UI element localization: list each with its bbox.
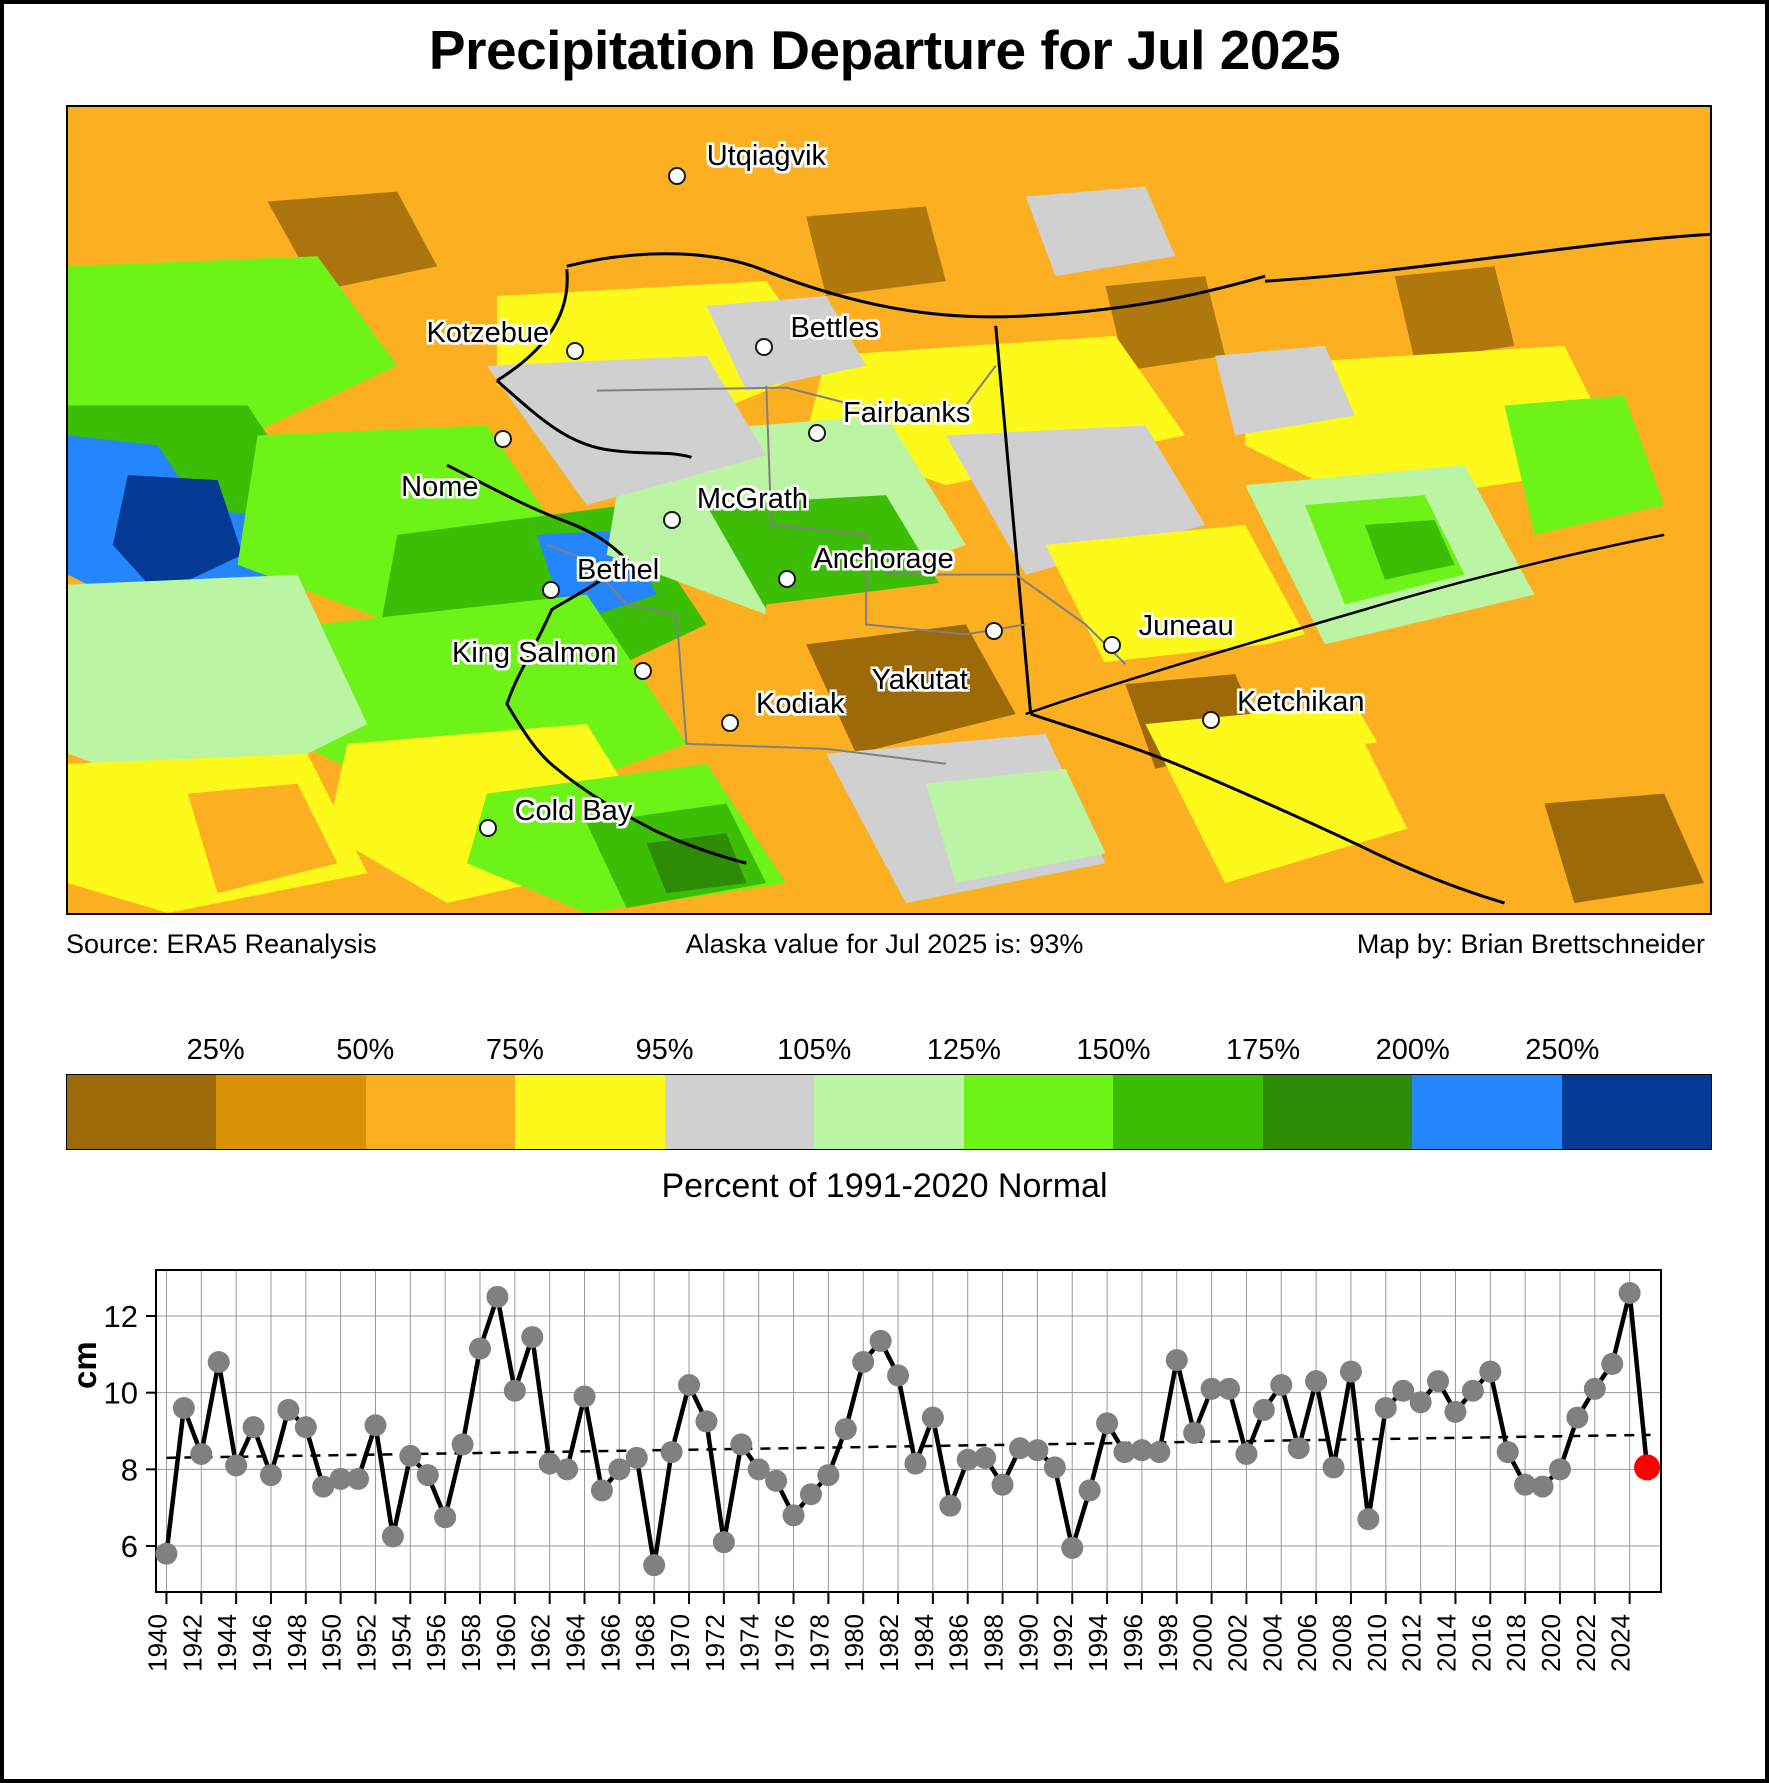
city-dot-icon bbox=[721, 714, 739, 732]
data-point-marker bbox=[347, 1468, 369, 1490]
data-point-marker bbox=[364, 1414, 386, 1436]
y-tick-label: 12 bbox=[104, 1299, 138, 1334]
colorbar-swatch bbox=[964, 1075, 1113, 1149]
city-label: King Salmon bbox=[452, 637, 616, 670]
data-point-marker bbox=[1044, 1456, 1066, 1478]
colorbar-swatch bbox=[216, 1075, 365, 1149]
data-point-marker bbox=[1061, 1537, 1083, 1559]
data-point-marker bbox=[243, 1416, 265, 1438]
x-tick-label: 1968 bbox=[630, 1614, 660, 1672]
city-dot-icon bbox=[985, 622, 1003, 640]
city-label: Nome bbox=[401, 471, 478, 504]
x-tick-label: 2020 bbox=[1536, 1614, 1566, 1672]
data-point-marker bbox=[1235, 1443, 1257, 1465]
data-point-marker bbox=[486, 1286, 508, 1308]
x-tick-label: 1958 bbox=[456, 1614, 486, 1672]
x-tick-label: 2010 bbox=[1362, 1614, 1392, 1672]
data-point-marker bbox=[1462, 1380, 1484, 1402]
x-tick-label: 2004 bbox=[1257, 1614, 1287, 1672]
data-point-marker bbox=[1148, 1441, 1170, 1463]
colorbar-swatch bbox=[665, 1075, 814, 1149]
data-point-marker bbox=[661, 1441, 683, 1463]
city-dot-icon bbox=[542, 581, 560, 599]
city-dot-icon bbox=[1103, 636, 1121, 654]
city-dot-icon bbox=[808, 424, 826, 442]
data-point-marker bbox=[1479, 1361, 1501, 1383]
colorbar-swatch bbox=[1113, 1075, 1262, 1149]
data-point-marker bbox=[1183, 1422, 1205, 1444]
x-tick-label: 1952 bbox=[351, 1614, 381, 1672]
data-point-marker bbox=[974, 1447, 996, 1469]
timeseries-chart: 6810121940194219441946194819501952195419… bbox=[66, 1262, 1712, 1762]
data-point-marker bbox=[1357, 1508, 1379, 1530]
colorbar-tick-label: 250% bbox=[1525, 1034, 1599, 1067]
colorbar-tick-label: 75% bbox=[486, 1034, 544, 1067]
data-point-marker bbox=[765, 1470, 787, 1492]
city-dot-icon bbox=[479, 819, 497, 837]
x-tick-label: 1984 bbox=[909, 1614, 939, 1672]
data-point-marker bbox=[452, 1433, 474, 1455]
current-year-marker bbox=[1634, 1454, 1660, 1480]
data-point-marker bbox=[1444, 1401, 1466, 1423]
data-point-marker bbox=[295, 1416, 317, 1438]
x-tick-label: 1972 bbox=[700, 1614, 730, 1672]
x-tick-label: 2022 bbox=[1571, 1614, 1601, 1672]
x-tick-label: 1956 bbox=[421, 1614, 451, 1672]
city-dot-icon bbox=[634, 662, 652, 680]
x-tick-label: 2000 bbox=[1188, 1614, 1218, 1672]
data-point-marker bbox=[695, 1410, 717, 1432]
page-title: Precipitation Departure for Jul 2025 bbox=[4, 18, 1765, 82]
y-axis-label: cm bbox=[66, 1341, 104, 1389]
data-point-marker bbox=[800, 1483, 822, 1505]
data-point-marker bbox=[417, 1464, 439, 1486]
data-point-marker bbox=[277, 1399, 299, 1421]
city-label: Bethel bbox=[577, 554, 659, 587]
data-point-marker bbox=[1619, 1282, 1641, 1304]
author-caption: Map by: Brian Brettschneider bbox=[1357, 929, 1705, 960]
data-point-marker bbox=[1079, 1479, 1101, 1501]
x-tick-label: 1970 bbox=[665, 1614, 695, 1672]
city-label: Fairbanks bbox=[843, 397, 970, 430]
city-label: Cold Bay bbox=[515, 795, 633, 828]
city-label: McGrath bbox=[697, 483, 808, 516]
colorbar-tick-label: 25% bbox=[187, 1034, 245, 1067]
precipitation-map-page: Precipitation Departure for Jul 2025 bbox=[0, 0, 1769, 1783]
colorbar-tick-label: 95% bbox=[636, 1034, 694, 1067]
x-tick-label: 2012 bbox=[1397, 1614, 1427, 1672]
data-point-marker bbox=[1288, 1437, 1310, 1459]
data-point-marker bbox=[1253, 1399, 1275, 1421]
data-point-marker bbox=[870, 1330, 892, 1352]
x-tick-label: 2024 bbox=[1606, 1614, 1636, 1672]
colorbar-title: Percent of 1991-2020 Normal bbox=[4, 1167, 1765, 1206]
colorbar-swatch bbox=[1263, 1075, 1412, 1149]
city-label: Juneau bbox=[1139, 610, 1234, 643]
x-tick-label: 2018 bbox=[1501, 1614, 1531, 1672]
data-point-marker bbox=[939, 1495, 961, 1517]
colorbar-tick-label: 105% bbox=[777, 1034, 851, 1067]
timeseries-svg: 6810121940194219441946194819501952195419… bbox=[66, 1262, 1712, 1762]
city-label: Kodiak bbox=[756, 688, 845, 721]
data-point-marker bbox=[1166, 1349, 1188, 1371]
colorbar-swatch bbox=[515, 1075, 664, 1149]
data-point-marker bbox=[1340, 1361, 1362, 1383]
data-point-marker bbox=[208, 1351, 230, 1373]
colorbar-swatch bbox=[814, 1075, 963, 1149]
city-dot-icon bbox=[755, 338, 773, 356]
data-point-marker bbox=[574, 1386, 596, 1408]
data-point-marker bbox=[504, 1380, 526, 1402]
colorbar-swatch bbox=[1412, 1075, 1561, 1149]
x-tick-label: 1946 bbox=[247, 1614, 277, 1672]
colorbar-tick-label: 125% bbox=[927, 1034, 1001, 1067]
data-point-marker bbox=[469, 1338, 491, 1360]
y-tick-label: 6 bbox=[121, 1529, 138, 1564]
colorbar-tick-label: 50% bbox=[336, 1034, 394, 1067]
x-tick-label: 1978 bbox=[804, 1614, 834, 1672]
data-point-marker bbox=[678, 1374, 700, 1396]
city-label: Ketchikan bbox=[1237, 686, 1364, 719]
city-dot-icon bbox=[494, 430, 512, 448]
x-tick-label: 1966 bbox=[595, 1614, 625, 1672]
data-point-marker bbox=[1218, 1378, 1240, 1400]
city-label: Kotzebue bbox=[427, 317, 550, 350]
x-tick-label: 1962 bbox=[526, 1614, 556, 1672]
city-dot-icon bbox=[778, 570, 796, 588]
x-tick-label: 1988 bbox=[979, 1614, 1009, 1672]
data-point-marker bbox=[713, 1531, 735, 1553]
data-point-marker bbox=[922, 1407, 944, 1429]
x-tick-label: 1964 bbox=[561, 1614, 591, 1672]
data-point-marker bbox=[1096, 1412, 1118, 1434]
data-point-marker bbox=[783, 1504, 805, 1526]
data-point-marker bbox=[904, 1453, 926, 1475]
data-point-marker bbox=[1270, 1374, 1292, 1396]
x-tick-label: 1994 bbox=[1083, 1614, 1113, 1672]
data-point-marker bbox=[591, 1479, 613, 1501]
data-point-marker bbox=[521, 1326, 543, 1348]
x-tick-label: 2002 bbox=[1222, 1614, 1252, 1672]
data-point-marker bbox=[852, 1351, 874, 1373]
x-tick-label: 1990 bbox=[1013, 1614, 1043, 1672]
x-tick-label: 1974 bbox=[735, 1614, 765, 1672]
x-tick-label: 1950 bbox=[317, 1614, 347, 1672]
data-point-marker bbox=[1305, 1370, 1327, 1392]
x-tick-label: 1982 bbox=[874, 1614, 904, 1672]
data-point-marker bbox=[1427, 1370, 1449, 1392]
data-point-marker bbox=[835, 1418, 857, 1440]
data-point-marker bbox=[399, 1445, 421, 1467]
city-label: Anchorage bbox=[813, 543, 953, 576]
data-point-marker bbox=[1584, 1378, 1606, 1400]
colorbar-swatches bbox=[66, 1074, 1712, 1150]
data-point-marker bbox=[1410, 1391, 1432, 1413]
x-tick-label: 1980 bbox=[839, 1614, 869, 1672]
data-point-marker bbox=[1601, 1353, 1623, 1375]
data-point-marker bbox=[260, 1464, 282, 1486]
x-tick-label: 1976 bbox=[770, 1614, 800, 1672]
data-point-marker bbox=[1566, 1407, 1588, 1429]
x-tick-label: 1948 bbox=[282, 1614, 312, 1672]
colorbar-swatch bbox=[1562, 1075, 1711, 1149]
colorbar-tick-label: 200% bbox=[1376, 1034, 1450, 1067]
data-line bbox=[166, 1293, 1647, 1565]
x-tick-label: 1996 bbox=[1118, 1614, 1148, 1672]
y-tick-label: 10 bbox=[104, 1376, 138, 1411]
data-point-marker bbox=[556, 1458, 578, 1480]
data-point-marker bbox=[434, 1506, 456, 1528]
alaska-precipitation-map: UtqiaġvikKotzebueBettlesNomeFairbanksMcG… bbox=[66, 105, 1712, 915]
x-tick-label: 2014 bbox=[1431, 1614, 1461, 1672]
data-point-marker bbox=[382, 1525, 404, 1547]
x-tick-label: 1998 bbox=[1153, 1614, 1183, 1672]
data-point-marker bbox=[1026, 1439, 1048, 1461]
x-tick-label: 1992 bbox=[1048, 1614, 1078, 1672]
data-point-marker bbox=[1549, 1458, 1571, 1480]
data-point-marker bbox=[1532, 1476, 1554, 1498]
data-point-marker bbox=[190, 1443, 212, 1465]
city-dot-icon bbox=[663, 511, 681, 529]
colorbar: 25%50%75%95%105%125%150%175%200%250% bbox=[66, 1034, 1712, 1150]
data-point-marker bbox=[1497, 1441, 1519, 1463]
x-tick-label: 2008 bbox=[1327, 1614, 1357, 1672]
x-tick-label: 1942 bbox=[177, 1614, 207, 1672]
data-point-marker bbox=[992, 1474, 1014, 1496]
x-tick-label: 1986 bbox=[944, 1614, 974, 1672]
colorbar-swatch bbox=[366, 1075, 515, 1149]
x-tick-label: 2006 bbox=[1292, 1614, 1322, 1672]
data-point-marker bbox=[730, 1433, 752, 1455]
data-point-marker bbox=[887, 1364, 909, 1386]
data-point-marker bbox=[643, 1554, 665, 1576]
y-tick-label: 8 bbox=[121, 1452, 138, 1487]
colorbar-ticklabels: 25%50%75%95%105%125%150%175%200%250% bbox=[66, 1034, 1712, 1070]
city-dot-icon bbox=[566, 342, 584, 360]
data-point-marker bbox=[1375, 1397, 1397, 1419]
x-tick-label: 2016 bbox=[1466, 1614, 1496, 1672]
colorbar-tick-label: 175% bbox=[1226, 1034, 1300, 1067]
colorbar-swatch bbox=[67, 1075, 216, 1149]
data-point-marker bbox=[817, 1464, 839, 1486]
city-label: Utqiaġvik bbox=[707, 140, 826, 173]
data-point-marker bbox=[155, 1543, 177, 1565]
data-point-marker bbox=[1323, 1456, 1345, 1478]
data-point-marker bbox=[173, 1397, 195, 1419]
x-tick-label: 1940 bbox=[142, 1614, 172, 1672]
x-tick-label: 1960 bbox=[491, 1614, 521, 1672]
city-dot-icon bbox=[668, 167, 686, 185]
colorbar-tick-label: 150% bbox=[1076, 1034, 1150, 1067]
city-label: Yakutat bbox=[872, 664, 968, 697]
data-point-marker bbox=[225, 1455, 247, 1477]
data-point-marker bbox=[626, 1447, 648, 1469]
x-tick-label: 1944 bbox=[212, 1614, 242, 1672]
map-raster bbox=[68, 107, 1710, 913]
x-tick-label: 1954 bbox=[386, 1614, 416, 1672]
city-label: Bettles bbox=[790, 312, 879, 345]
city-dot-icon bbox=[1202, 711, 1220, 729]
